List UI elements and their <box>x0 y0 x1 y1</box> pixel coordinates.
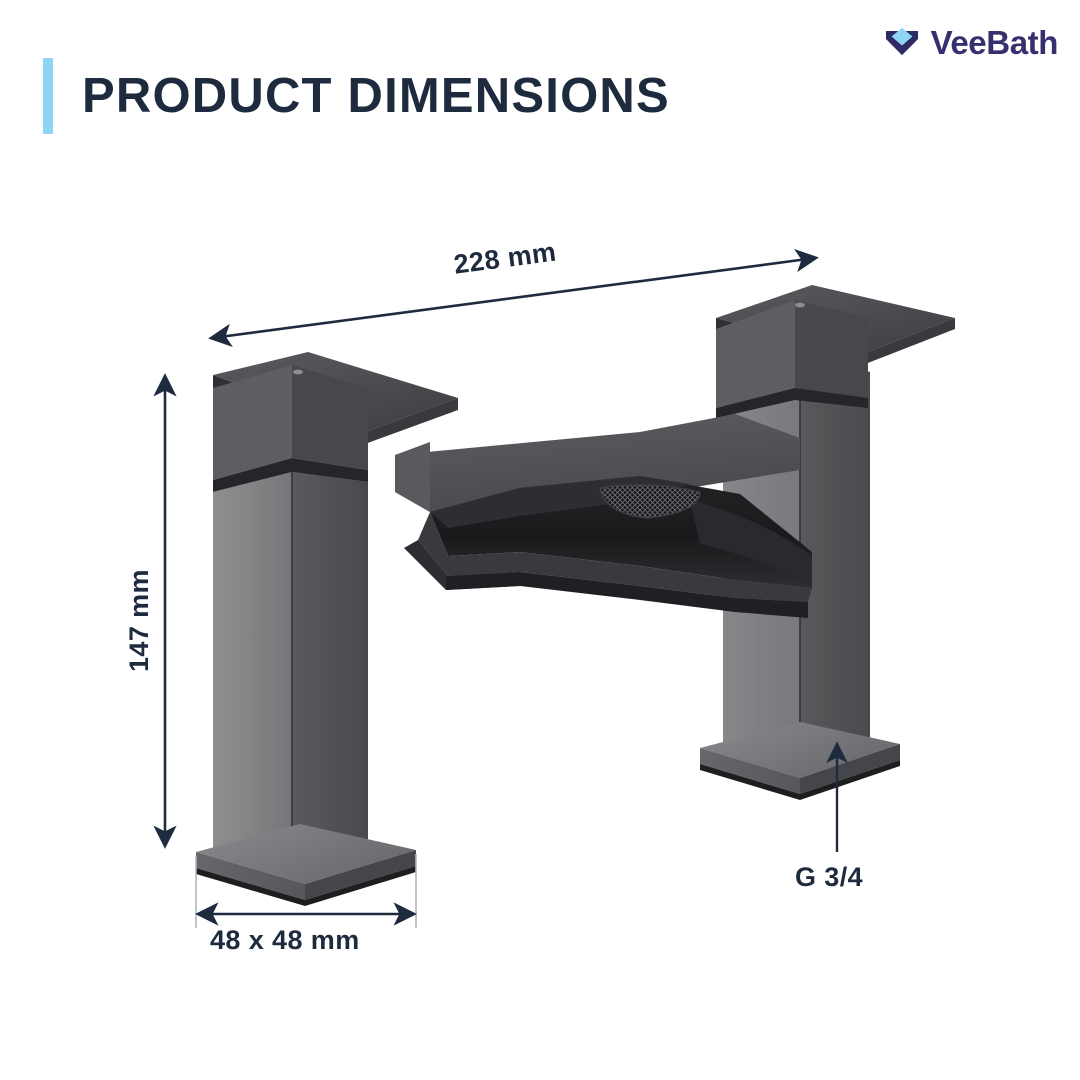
left-column <box>213 472 368 868</box>
height-dimension-label: 147 mm <box>124 569 155 672</box>
dimension-diagram <box>0 0 1080 1080</box>
right-handle-lever <box>716 285 955 418</box>
thread-callout-label: G 3/4 <box>795 862 863 893</box>
product-illustration <box>196 285 955 906</box>
waterfall-spout <box>395 414 812 618</box>
base-dimension-label: 48 x 48 mm <box>210 925 360 956</box>
product-dimensions-page: VeeBath PRODUCT DIMENSIONS <box>0 0 1080 1080</box>
